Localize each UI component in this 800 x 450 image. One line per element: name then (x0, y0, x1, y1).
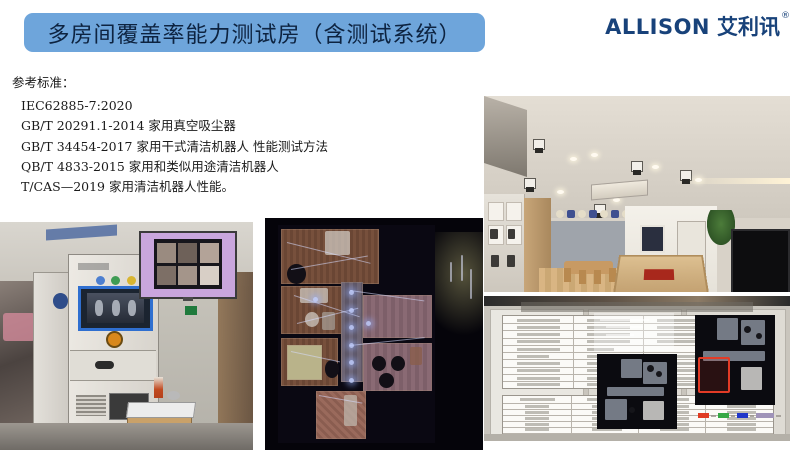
logo-english-text: ALLISON (605, 17, 710, 38)
legend-swatch-purple (756, 413, 774, 418)
ceiling-downlight-icon (570, 157, 577, 161)
standard-item: IEC62885-7:2020 (12, 96, 392, 116)
wall-monitor (139, 231, 237, 299)
photo-analysis-report-screen (484, 296, 790, 441)
cabinet-fan-icon (53, 293, 68, 309)
table-cell-text (517, 383, 560, 386)
cabinet-button-yellow (127, 276, 136, 285)
shelf-product (490, 229, 497, 239)
legend-label-blue (750, 415, 754, 417)
cabinet-interior-part (128, 300, 136, 316)
furniture-bed-light (287, 345, 322, 380)
legend-swatch-green (718, 413, 729, 418)
cabinet-open-door (33, 272, 73, 424)
monitor-stand (183, 297, 192, 301)
monitor-view-tile (178, 266, 197, 285)
exit-sign-icon (185, 306, 198, 315)
shelf-product (491, 255, 499, 267)
ceiling-downlight-icon (652, 165, 659, 169)
view-object-dot (656, 371, 662, 377)
pendant-light-icon (578, 210, 586, 218)
table-cell-text (727, 423, 757, 426)
view-object-dot (647, 365, 654, 372)
table-cell-text (525, 417, 549, 420)
standard-item: GB/T 20291.1-2014 家用真空吸尘器 (12, 116, 392, 136)
drawer-handle (95, 361, 114, 369)
report-ghost-line (606, 326, 643, 328)
table-cell-text (727, 428, 757, 431)
view-object-dot (629, 407, 635, 413)
report-title-text (521, 302, 754, 312)
logo-chinese-text: 艾利讯 (717, 17, 780, 38)
view-corridor-block (607, 387, 664, 396)
report-ghost-line (600, 319, 649, 321)
monitor-screen (154, 239, 221, 289)
table-cell-text (525, 405, 549, 408)
camera-lens-icon (682, 179, 690, 184)
table-cell-text (517, 326, 560, 329)
coverage-glow-marker (313, 297, 318, 302)
table-cell-text (517, 369, 560, 372)
view-room-block (605, 399, 627, 420)
computer-mouse (167, 391, 180, 400)
pendant-light-icon (600, 210, 608, 218)
pendant-light-icon (567, 210, 575, 218)
dining-table (564, 261, 613, 275)
legend-label-green (731, 415, 735, 417)
cabinet-interior-part (95, 300, 103, 316)
standard-item: GB/T 34454-2017 家用干式清洁机器人 性能测试方法 (12, 137, 392, 157)
legend-label-purple (776, 415, 780, 417)
ceiling-camera-icon (680, 170, 692, 181)
cabinet-button-green (111, 276, 120, 285)
ceiling-camera-icon (533, 139, 545, 150)
reference-standards-block: 参考标准： IEC62885-7:2020 GB/T 20291.1-2014 … (12, 72, 392, 197)
view-room-block (741, 320, 765, 345)
test-platform-marker (643, 269, 674, 280)
camera-lens-icon (633, 170, 641, 175)
table-cell-text (517, 377, 560, 380)
table-cell-text (520, 398, 555, 401)
bottle-object (154, 377, 163, 398)
page-title: 多房间覆盖率能力测试房（含测试系统） (47, 17, 461, 49)
registered-trademark-icon: ® (781, 12, 790, 21)
slide-title-banner: 多房间覆盖率能力测试房（含测试系统） (24, 13, 485, 52)
view-room-block (621, 359, 642, 379)
table-cell-text (517, 340, 560, 343)
ceiling-camera-icon (524, 178, 536, 189)
lab-background-clutter-pink (3, 313, 36, 340)
ceiling-downlight-icon (613, 198, 620, 202)
test-platform-table (612, 255, 709, 292)
display-shelving-unit (484, 194, 525, 292)
dining-chair (579, 270, 586, 284)
computer-keyboard (125, 402, 195, 418)
shelf-product (507, 255, 515, 267)
cabinet-name-plate (78, 263, 108, 270)
dining-chair (564, 268, 571, 282)
legend-label-red (711, 415, 715, 417)
table-cell-text (517, 319, 560, 322)
furniture-dark (325, 360, 339, 377)
cabinet-vent-grill (76, 395, 106, 416)
view-object-dot (756, 333, 762, 339)
standards-heading: 参考标准： (12, 72, 392, 91)
table-cell-text (517, 348, 560, 351)
coverage-region-overlay (698, 357, 730, 393)
coverage-glow-marker (349, 325, 354, 330)
table-cell-text (525, 428, 549, 431)
legend-swatch-blue (737, 413, 748, 418)
monitor-view-tile (178, 243, 197, 263)
table-cell-text (517, 333, 560, 336)
monitor-view-tile (200, 243, 219, 263)
cabinet-button-blue (96, 276, 105, 285)
ceiling-downlight-icon (591, 153, 598, 157)
photo-interior-test-room (484, 96, 790, 292)
legend-swatch-red (698, 413, 709, 418)
room-corridor (341, 282, 363, 382)
table-cell-text (525, 423, 549, 426)
report-ghost-line (606, 334, 634, 336)
coverage-glow-marker (366, 321, 371, 326)
dining-chair (594, 270, 601, 284)
standard-item: T/CAS—2019 家用清洁机器人性能。 (12, 177, 392, 197)
pendant-light-icon (611, 210, 619, 218)
coverage-glow-marker (349, 308, 354, 313)
monitor-view-tile (157, 243, 176, 263)
report-photo-bottom-edge (484, 434, 790, 441)
standard-item: QB/T 4833-2015 家用和类似用途清洁机器人 (12, 157, 392, 177)
table-cell-text (517, 362, 560, 365)
shelf-cell (488, 202, 504, 222)
camera-lens-icon (526, 187, 534, 192)
camera-lens-icon (535, 148, 543, 153)
monitor-view-tile (157, 266, 176, 285)
brand-logo: ALLISON 艾利讯 ® (605, 17, 790, 38)
table-col-divider (571, 396, 572, 438)
floorplan-area (278, 225, 435, 443)
room-kitchen (363, 295, 432, 339)
view-room-block-light (741, 367, 762, 390)
table-col-divider (573, 316, 574, 389)
table-cell-text (727, 405, 757, 408)
pendant-light-icon (589, 210, 597, 218)
ceiling-track-beam (484, 96, 527, 177)
cabinet-interior-part (112, 300, 120, 316)
wall-television (731, 229, 790, 292)
coverage-glow-marker (349, 360, 354, 365)
coverage-glow-marker (349, 378, 354, 383)
table-cell-text (525, 411, 549, 414)
furniture-cabinet (410, 347, 423, 364)
wall-picture-frame (640, 225, 665, 253)
cabinet-drawer (70, 350, 156, 382)
ceiling-camera-icon (631, 161, 643, 172)
lab-floor (0, 423, 253, 450)
overhead-light-streak (470, 269, 472, 299)
photo-overhead-floorplan (265, 218, 483, 450)
coverage-glow-marker (349, 343, 354, 348)
coverage-color-legend (698, 412, 781, 419)
shelf-cell (506, 202, 522, 222)
photo-lab-test-cabinet (0, 222, 253, 450)
shelf-product (508, 229, 515, 239)
report-overhead-view-center (597, 354, 677, 429)
pendant-light-icon (556, 210, 564, 218)
view-room-block-light (643, 401, 664, 421)
table-cell-text (517, 355, 549, 358)
view-room-block (717, 318, 738, 340)
monitor-view-tile (200, 266, 219, 285)
